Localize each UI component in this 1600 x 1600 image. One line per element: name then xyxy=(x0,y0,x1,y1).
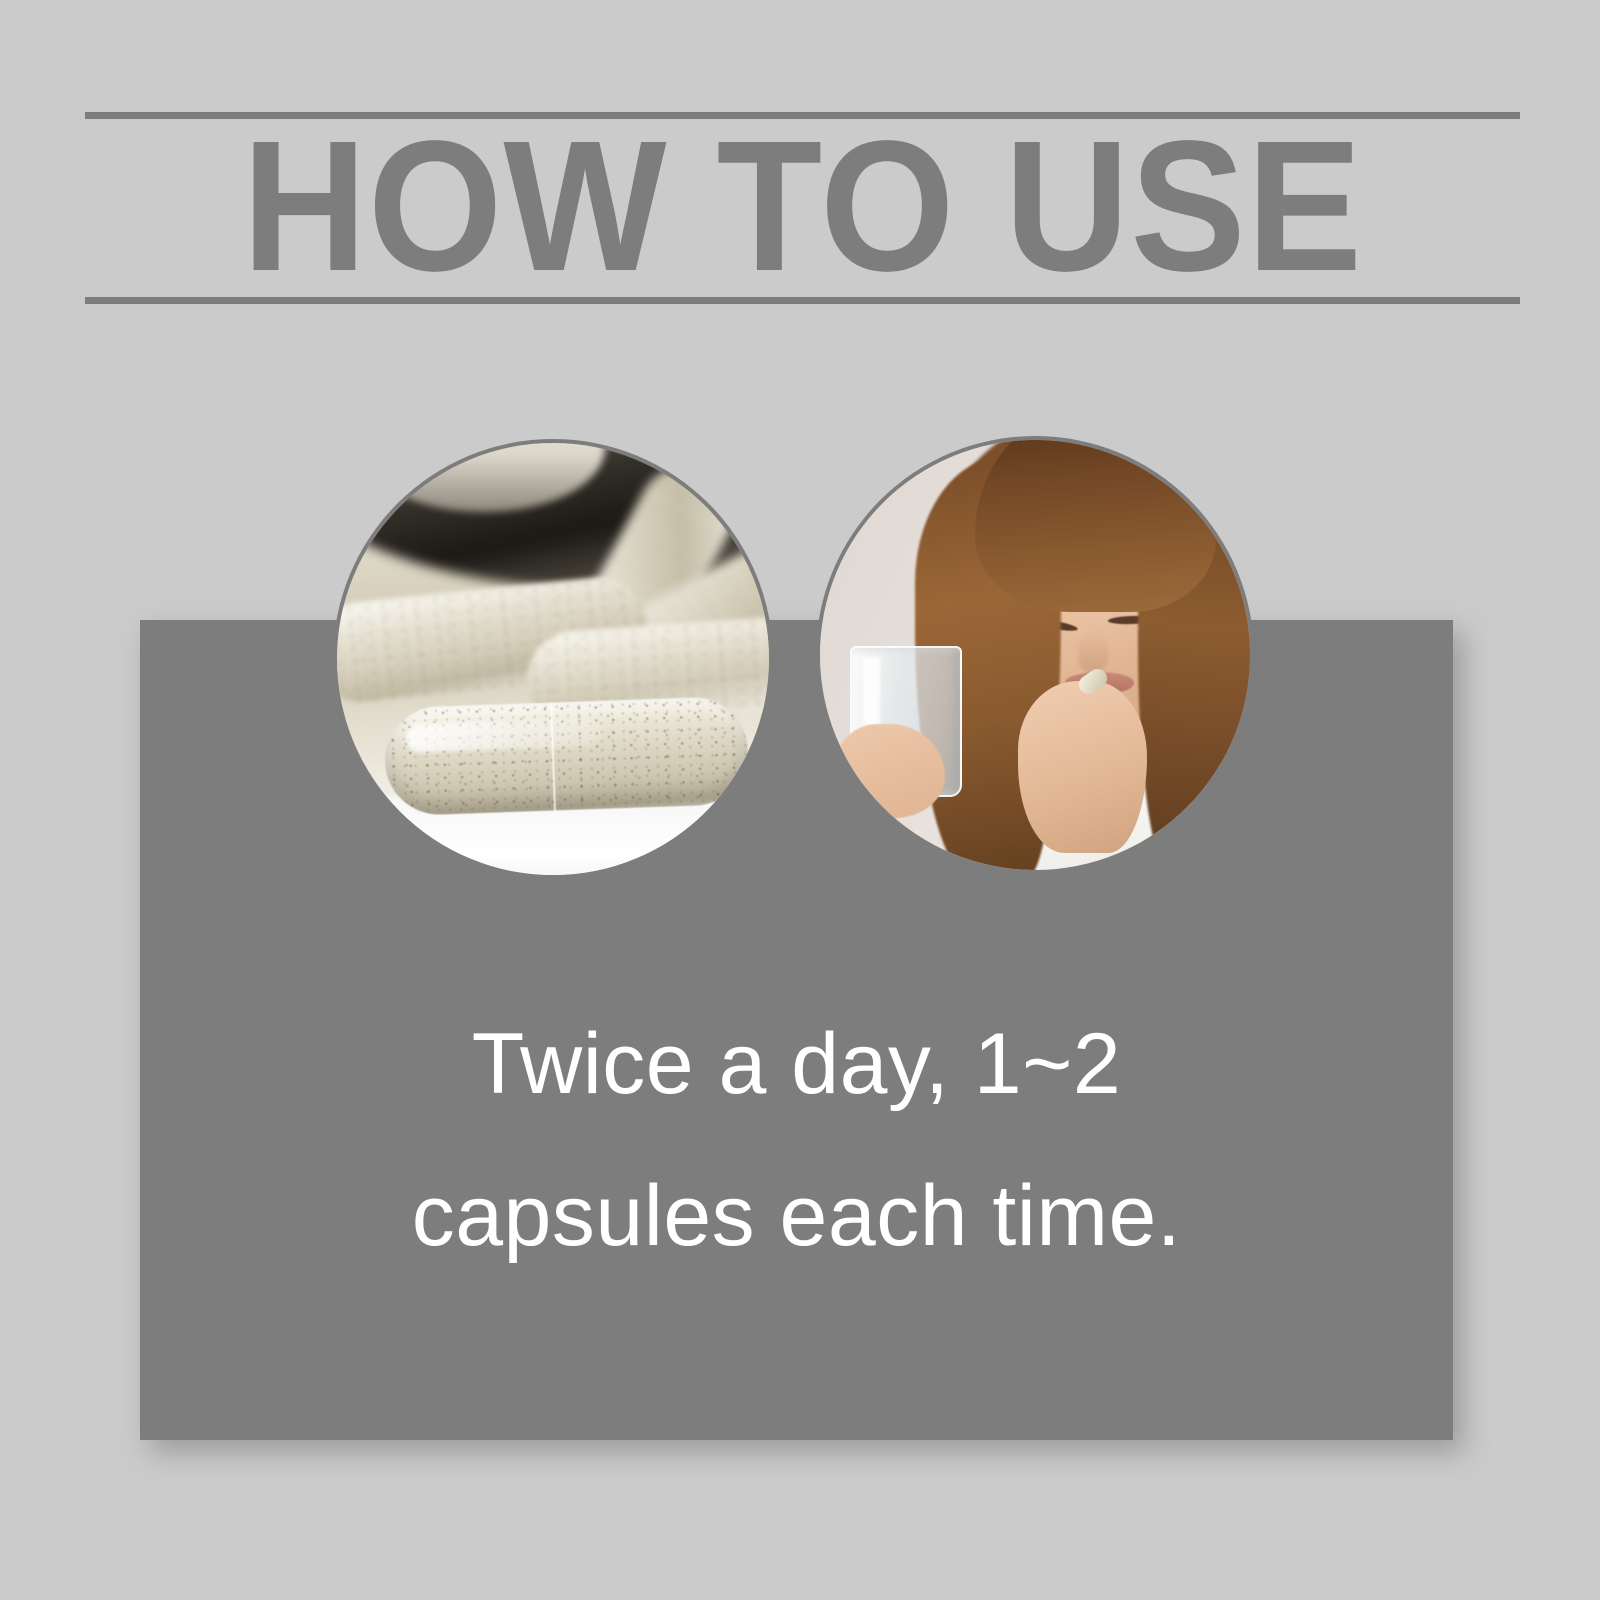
instruction-text: Twice a day, 1~2 capsules each time. xyxy=(140,988,1453,1292)
woman-hair-top xyxy=(975,440,1216,612)
capsule-powder-specks xyxy=(383,696,749,817)
header-block: HOW TO USE xyxy=(85,112,1520,304)
instruction-line-1: Twice a day, 1~2 xyxy=(140,988,1453,1140)
woman-hand-to-mouth xyxy=(1018,681,1147,853)
how-to-use-poster: HOW TO USE Twice a day, 1~2 capsules eac… xyxy=(0,0,1600,1600)
woman-photo-art xyxy=(820,440,1250,870)
woman-taking-pill-photo xyxy=(820,440,1250,870)
capsule-foreground xyxy=(383,696,749,817)
woman-hand-holding-glass xyxy=(833,724,945,819)
header-rule-bottom xyxy=(85,297,1520,304)
page-title: HOW TO USE xyxy=(135,118,1470,296)
capsules-photo-art xyxy=(337,443,769,875)
instruction-line-2: capsules each time. xyxy=(140,1140,1453,1292)
woman-nose xyxy=(1078,634,1108,673)
capsules-photo xyxy=(337,443,769,875)
